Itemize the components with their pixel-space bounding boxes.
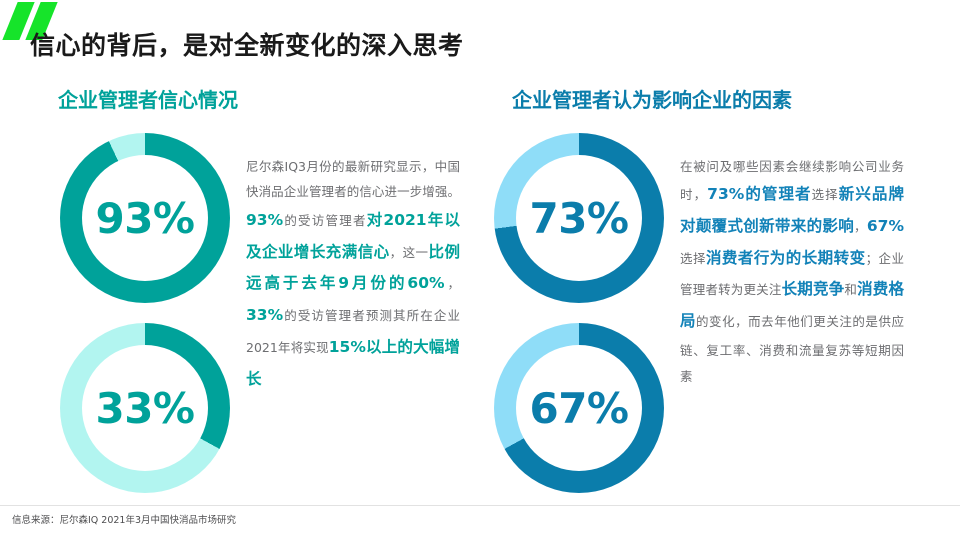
text-run-0: 尼尔森IQ3月份的最新研究显示，中国快消品企业管理者的信心进一步增强。 — [246, 159, 460, 200]
right-column: 企业管理者认为影响企业的因素 73% 67% 在被问及哪些因素会继续影响公司业务… — [478, 84, 928, 484]
text-run-2: 选择 — [812, 187, 839, 202]
text-run-10: 和 — [844, 282, 857, 297]
text-run-7: 消费者行为的长期转变 — [706, 249, 866, 267]
donut-chart-93: 93% — [60, 133, 230, 303]
text-run-1: 93% — [246, 211, 283, 229]
source-footnote: 信息来源：尼尔森IQ 2021年3月中国快消品市场研究 — [12, 512, 236, 526]
donut-value-67: 67% — [494, 323, 664, 493]
text-run-1: 73%的管理者 — [707, 185, 811, 203]
text-run-5: 67% — [867, 217, 904, 235]
text-run-4: ，这一 — [390, 245, 429, 260]
text-run-6: 选择 — [680, 251, 706, 266]
donut-chart-33: 33% — [60, 323, 230, 493]
right-column-body: 73% 67% 在被问及哪些因素会继续影响公司业务时，73%的管理者选择新兴品牌… — [478, 125, 928, 497]
page-title: 信心的背后，是对全新变化的深入思考 — [30, 26, 464, 62]
donut-value-73: 73% — [494, 133, 664, 303]
donut-value-33: 33% — [60, 323, 230, 493]
right-column-heading: 企业管理者认为影响企业的因素 — [512, 84, 928, 113]
left-column-heading: 企业管理者信心情况 — [58, 84, 474, 113]
text-run-2: 的受访管理者 — [283, 213, 367, 228]
text-run-12: 的变化，而去年他们更关注的是供应链、复工率、消费和流量复苏等短期因素 — [680, 314, 904, 383]
donut-chart-73: 73% — [494, 133, 664, 303]
text-run-9: 长期竞争 — [782, 280, 845, 298]
footer-divider — [0, 505, 960, 506]
text-run-7: 33% — [246, 306, 283, 324]
left-column: 企业管理者信心情况 93% 33% 尼尔森IQ3月份的最新研究显示，中国快消品企… — [24, 84, 474, 484]
text-run-4: ， — [854, 219, 867, 234]
left-column-body: 93% 33% 尼尔森IQ3月份的最新研究显示，中国快消品企业管理者的信心进一步… — [24, 125, 474, 497]
left-column-paragraph: 尼尔森IQ3月份的最新研究显示，中国快消品企业管理者的信心进一步增强。93%的受… — [246, 154, 460, 396]
right-column-paragraph: 在被问及哪些因素会继续影响公司业务时，73%的管理者选择新兴品牌对颠覆式创新带来… — [680, 154, 904, 390]
donut-value-93: 93% — [60, 133, 230, 303]
text-run-6: ， — [445, 276, 460, 291]
donut-chart-67: 67% — [494, 323, 664, 493]
